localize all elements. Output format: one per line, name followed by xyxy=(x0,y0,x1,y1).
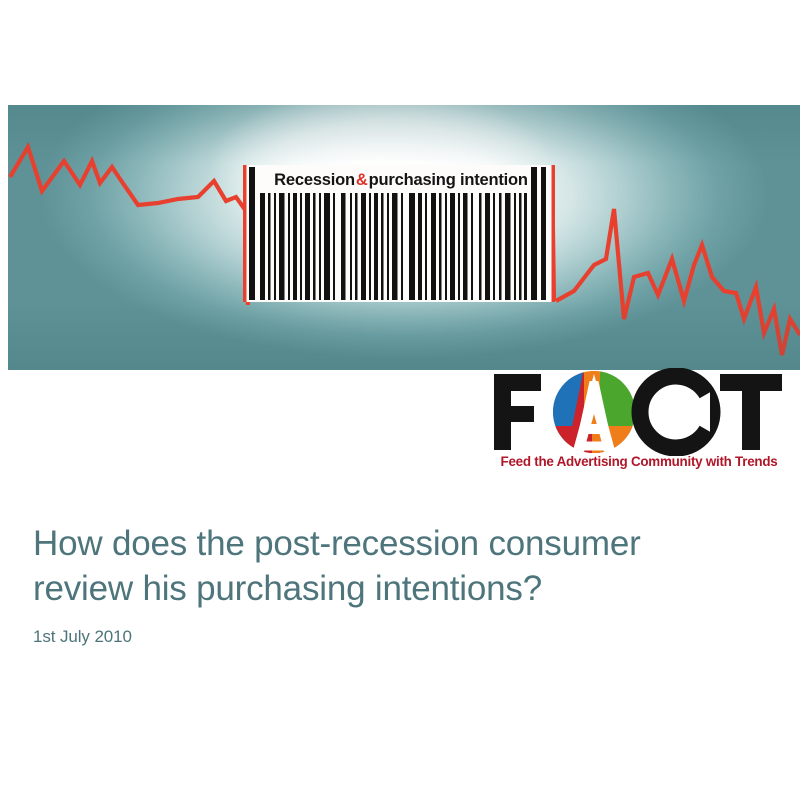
page-title: How does the post-recession consumer rev… xyxy=(33,521,763,611)
barcode-caption-suffix: purchasing intention xyxy=(369,171,528,190)
fact-wordmark-graphic xyxy=(488,368,788,456)
barcode-caption-ampersand: & xyxy=(355,171,369,190)
page-title-line-2: review his purchasing intentions? xyxy=(33,566,763,611)
barcode-caption-prefix: Recession xyxy=(274,171,355,190)
title-slide: Recession & purchasing intention xyxy=(0,0,800,800)
fact-logo: Feed the Advertising Community with Tren… xyxy=(488,368,788,480)
presentation-date: 1st July 2010 xyxy=(33,627,763,647)
barcode-graphic: Recession & purchasing intention xyxy=(243,165,555,302)
logo-letter-f xyxy=(494,374,541,450)
logo-tagline: Feed the Advertising Community with Tren… xyxy=(490,454,788,469)
logo-letter-t xyxy=(720,374,782,450)
page-title-line-1: How does the post-recession consumer xyxy=(33,521,763,566)
barcode-caption: Recession & purchasing intention xyxy=(265,168,537,192)
logo-letter-a xyxy=(548,368,640,456)
recession-banner: Recession & purchasing intention xyxy=(8,105,800,370)
title-block: How does the post-recession consumer rev… xyxy=(33,521,763,647)
